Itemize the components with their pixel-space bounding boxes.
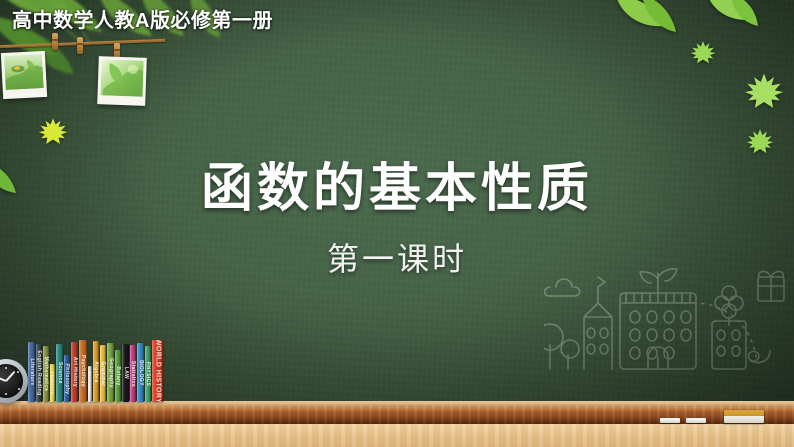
book-title: LAW (123, 367, 129, 379)
decoration-top-right (594, 0, 794, 140)
board-eraser-icon (724, 410, 764, 423)
book-spine: PHYSICS (145, 346, 151, 402)
book-spine: Economics (88, 366, 92, 402)
maple-leaf-icon (746, 128, 774, 156)
book-title: Algebra (93, 361, 99, 382)
book-spine: Botany (115, 350, 121, 402)
book-spine: LAW (122, 344, 129, 402)
book-spine: Algebra (93, 341, 99, 402)
book-title: Literature (29, 358, 35, 385)
book-title: Statistics (130, 360, 136, 386)
polaroid-photo-right[interactable] (97, 56, 147, 106)
book-spine: Art History (71, 342, 78, 402)
photo-image-nature (100, 59, 143, 96)
book-spine: English Reading (36, 344, 42, 402)
bamboo-leaf-icon (704, 0, 762, 36)
presentation-slide: 高中数学人教A版必修第一册 函数的基本性质 第一课时 (0, 0, 794, 447)
polaroid-photo-left[interactable] (1, 51, 47, 99)
lesson-subtitle: 第一课时 (0, 234, 794, 280)
book-title: Philosophy (64, 363, 70, 394)
book-title: Grammar (100, 361, 106, 386)
book-spine: Geography (107, 343, 114, 402)
book-title: English Reading (36, 350, 42, 395)
book-title: Botany (115, 366, 121, 385)
book-title: Psychology (80, 355, 86, 387)
maple-leaf-icon (690, 40, 716, 66)
book-title: WORLD HISTORY (154, 340, 161, 402)
clothespin-icon (77, 37, 83, 54)
book-spine: Philosophy (64, 355, 70, 402)
book-spine: WORLD HISTORY (152, 340, 163, 402)
book-spine: Literature (28, 342, 35, 402)
clothespin-icon (52, 33, 58, 50)
book-title: Science (57, 362, 63, 384)
bamboo-leaf-icon (612, 0, 682, 46)
book-spine: Science (56, 344, 63, 402)
book-spine: Chemistry (50, 364, 55, 402)
chalk-piece-icon (686, 418, 706, 423)
bookshelf-books: LiteratureEnglish ReadingMathematicsChem… (28, 340, 164, 402)
book-title: Chemistry (50, 371, 55, 394)
lesson-title: 函数的基本性质 (0, 160, 794, 218)
photo-image-nature (4, 54, 44, 90)
clock-minute-hand (5, 371, 15, 382)
clock-face (0, 364, 23, 398)
book-title: Art History (72, 357, 78, 387)
book-title: Geography (108, 358, 114, 388)
book-title: PHYSICS (145, 362, 151, 387)
book-spine: Mathematics (43, 346, 49, 402)
lower-wall (0, 424, 794, 447)
book-spine: Statistics (130, 345, 136, 402)
title-block: 函数的基本性质 第一课时 (0, 160, 794, 280)
book-title: BIOLOGY (138, 360, 144, 386)
book-spine: BIOLOGY (137, 343, 144, 402)
book-title: Mathematics (43, 357, 49, 392)
maple-leaf-icon (744, 72, 784, 112)
page-title: 高中数学人教A版必修第一册 (12, 4, 273, 33)
book-title: Economics (88, 372, 92, 397)
book-spine: Grammar (100, 345, 106, 402)
book-spine: Psychology (79, 340, 87, 402)
chalk-piece-icon (660, 418, 680, 423)
